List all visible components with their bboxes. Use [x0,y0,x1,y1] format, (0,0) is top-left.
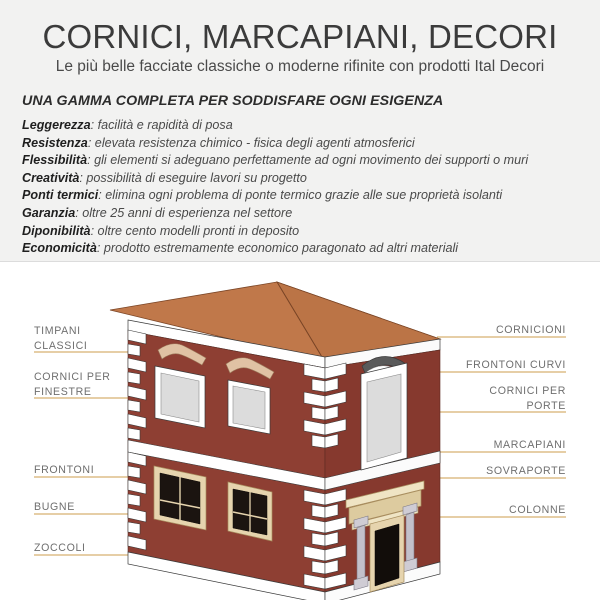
header-panel: CORNICI, MARCAPIANI, DECORI Le più belle… [0,0,600,262]
feature-term: Leggerezza [22,118,91,132]
feature-row: Garanzia: oltre 25 anni di esperienza ne… [22,205,582,223]
feature-term: Creatività [22,171,79,185]
feature-term: Garanzia [22,206,75,220]
label-marcapiani: MARCAPIANI [494,438,566,453]
feature-description: : oltre cento modelli pronti in deposito [91,224,300,238]
feature-row: Resistenza: elevata resistenza chimico -… [22,135,582,153]
feature-description: : elimina ogni problema di ponte termico… [98,188,502,202]
feature-row: Diponibilità: oltre cento modelli pronti… [22,223,582,241]
upper-window-2 [228,380,270,434]
building-illustration [0,262,600,600]
feature-description: : gli elementi si adeguano perfettamente… [87,153,528,167]
features-list: Leggerezza: facilità e rapidità di posaR… [22,117,582,258]
upper-window-1 [155,366,205,428]
label-cornici-per-finestre: CORNICI PER FINESTRE [34,370,111,399]
label-frontoni-curvi: FRONTONI CURVI [466,358,566,373]
feature-description: : facilità e rapidità di posa [91,118,233,132]
feature-description: : possibilità di eseguire lavori su prog… [79,171,307,185]
feature-row: Creatività: possibilità di eseguire lavo… [22,170,582,188]
label-frontoni: FRONTONI [34,463,94,478]
feature-row: Economicità: prodotto estremamente econo… [22,240,582,258]
label-zoccoli: ZOCCOLI [34,541,86,556]
page-subtitle: Le più belle facciate classiche o modern… [0,57,600,77]
label-cornicioni: CORNICIONI [496,323,566,338]
label-cornici-per-porte: CORNICI PER PORTE [489,384,566,413]
feature-description: : prodotto estremamente economico parago… [97,241,458,255]
label-sovraporte: SOVRAPORTE [486,464,566,479]
infographic-page: CORNICI, MARCAPIANI, DECORI Le più belle… [0,0,600,600]
label-bugne: BUGNE [34,500,75,515]
features-block: UNA GAMMA COMPLETA PER SODDISFARE OGNI E… [22,92,582,258]
feature-term: Economicità [22,241,97,255]
ground-window-1 [154,466,206,530]
ground-window-2 [228,482,272,541]
ground-door [370,515,404,592]
feature-term: Flessibilità [22,153,87,167]
feature-description: : elevata resistenza chimico - fisica de… [88,136,415,150]
feature-row: Ponti termici: elimina ogni problema di … [22,187,582,205]
feature-term: Diponibilità [22,224,91,238]
feature-row: Flessibilità: gli elementi si adeguano p… [22,152,582,170]
page-title: CORNICI, MARCAPIANI, DECORI [0,18,600,56]
feature-row: Leggerezza: facilità e rapidità di posa [22,117,582,135]
label-timpani-classici: TIMPANI CLASSICI [34,324,87,353]
feature-term: Ponti termici [22,188,98,202]
features-heading: UNA GAMMA COMPLETA PER SODDISFARE OGNI E… [22,92,582,111]
feature-term: Resistenza [22,136,88,150]
feature-description: : oltre 25 anni di esperienza nel settor… [75,206,292,220]
label-colonne: COLONNE [509,503,566,518]
upper-door-side [361,363,407,470]
building-diagram: TIMPANI CLASSICI CORNICI PER FINESTRE FR… [0,262,600,600]
